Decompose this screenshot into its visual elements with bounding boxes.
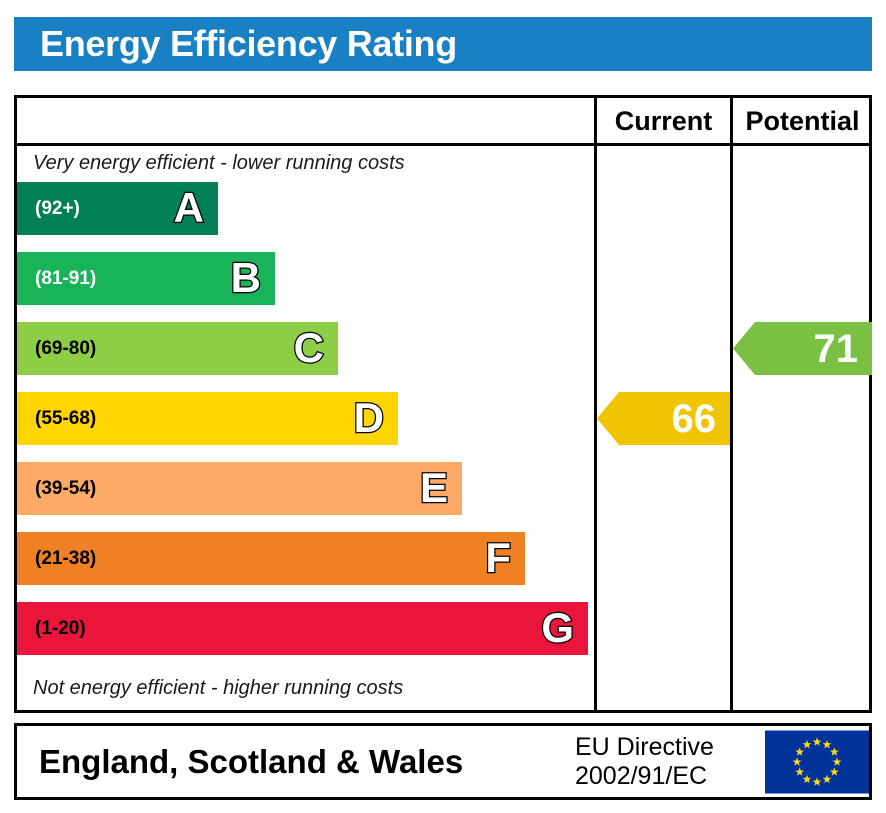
body-divider-2 xyxy=(730,146,733,713)
footer-directive-line1: EU Directive xyxy=(575,733,714,762)
band-range-g: (1-20) xyxy=(35,618,86,640)
rating-band-f: (21-38)F xyxy=(17,532,525,585)
band-range-f: (21-38) xyxy=(35,548,96,570)
eu-flag-icon xyxy=(765,730,869,793)
current-rating-marker: 66 xyxy=(597,392,730,445)
footer-directive-label: EU Directive 2002/91/EC xyxy=(575,733,714,791)
band-letter-c: C xyxy=(294,327,324,369)
table-header-row: Current Potential xyxy=(17,98,869,146)
rating-band-g: (1-20)G xyxy=(17,602,588,655)
body-divider-1 xyxy=(594,146,597,713)
rating-band-d: (55-68)D xyxy=(17,392,398,445)
page-title: Energy Efficiency Rating xyxy=(40,23,457,65)
rating-band-e: (39-54)E xyxy=(17,462,462,515)
potential-rating-marker: 71 xyxy=(733,322,872,375)
potential-rating-value: 71 xyxy=(814,329,873,369)
footer-region-label: England, Scotland & Wales xyxy=(39,743,463,781)
band-range-c: (69-80) xyxy=(35,338,96,360)
caption-efficient: Very energy efficient - lower running co… xyxy=(33,152,405,175)
column-header-current: Current xyxy=(597,106,730,137)
band-range-a: (92+) xyxy=(35,198,80,220)
band-letter-a: A xyxy=(174,187,204,229)
footer-bar: England, Scotland & Wales EU Directive 2… xyxy=(14,723,872,800)
band-range-e: (39-54) xyxy=(35,478,96,500)
rating-band-b: (81-91)B xyxy=(17,252,275,305)
chart-header-banner: Energy Efficiency Rating xyxy=(14,17,872,71)
band-letter-g: G xyxy=(541,607,574,649)
caption-inefficient: Not energy efficient - higher running co… xyxy=(33,677,403,700)
band-range-b: (81-91) xyxy=(35,268,96,290)
footer-directive-line2: 2002/91/EC xyxy=(575,762,714,791)
rating-band-c: (69-80)C xyxy=(17,322,338,375)
band-letter-f: F xyxy=(485,537,511,579)
band-letter-d: D xyxy=(354,397,384,439)
band-range-d: (55-68) xyxy=(35,408,96,430)
rating-bands-area: Very energy efficient - lower running co… xyxy=(17,146,869,713)
band-letter-e: E xyxy=(420,467,448,509)
rating-table: Current Potential Very energy efficient … xyxy=(14,95,872,713)
column-header-potential: Potential xyxy=(733,106,872,137)
band-letter-b: B xyxy=(231,257,261,299)
energy-efficiency-rating-chart: Energy Efficiency Rating Current Potenti… xyxy=(0,0,886,813)
rating-band-a: (92+)A xyxy=(17,182,218,235)
current-rating-value: 66 xyxy=(672,399,731,439)
